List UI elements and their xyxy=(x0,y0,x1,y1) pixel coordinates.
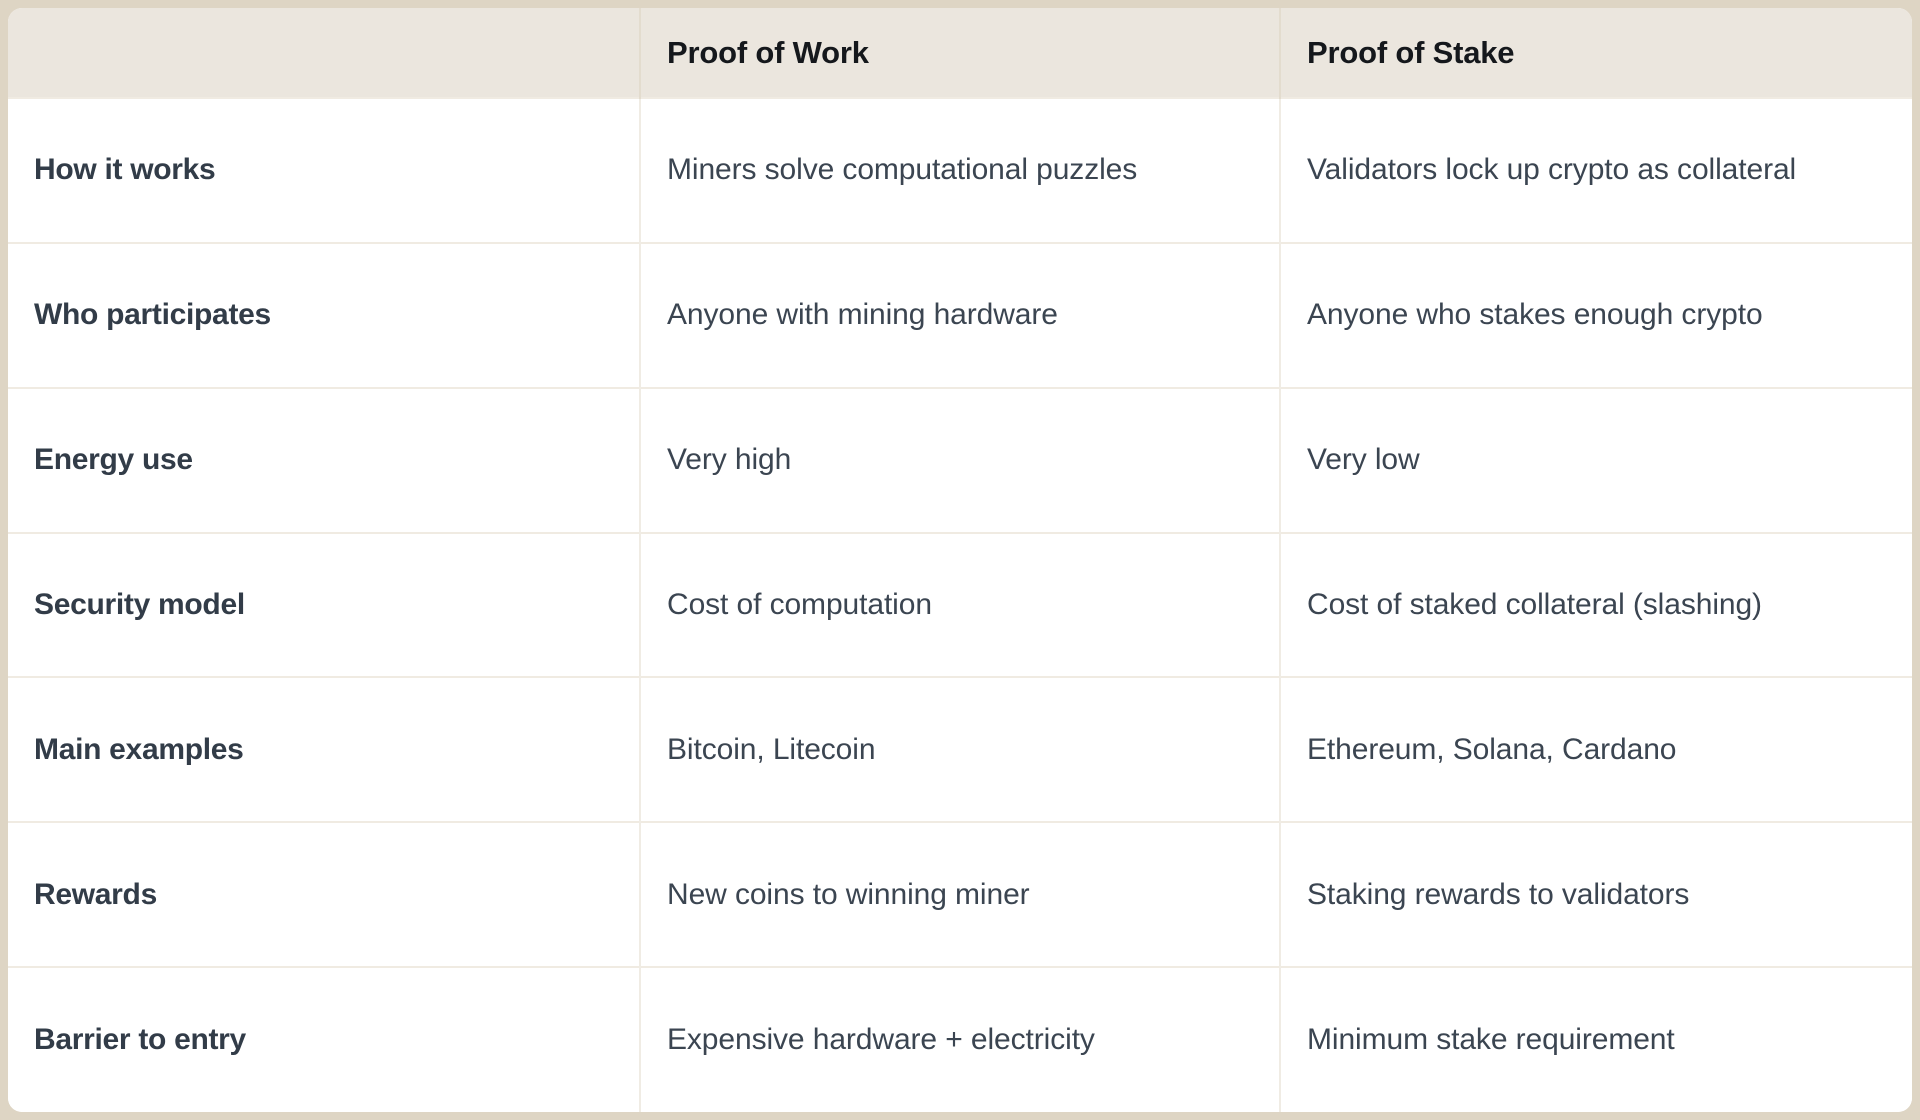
column-header-proof-of-work: Proof of Work xyxy=(640,8,1280,98)
table-row: Who participates Anyone with mining hard… xyxy=(8,243,1912,388)
row-label-energy-use: Energy use xyxy=(8,388,640,533)
cell-pow-who-participates: Anyone with mining hardware xyxy=(640,243,1280,388)
row-label-main-examples: Main examples xyxy=(8,677,640,822)
table-body: How it works Miners solve computational … xyxy=(8,98,1912,1112)
table-row: Energy use Very high Very low xyxy=(8,388,1912,533)
table-row: Barrier to entry Expensive hardware + el… xyxy=(8,967,1912,1112)
row-label-security-model: Security model xyxy=(8,533,640,678)
table-header: Proof of Work Proof of Stake xyxy=(8,8,1912,98)
table-row: Main examples Bitcoin, Litecoin Ethereum… xyxy=(8,677,1912,822)
row-label-rewards: Rewards xyxy=(8,822,640,967)
cell-pos-how-it-works: Validators lock up crypto as collateral xyxy=(1280,98,1912,243)
cell-pos-main-examples: Ethereum, Solana, Cardano xyxy=(1280,677,1912,822)
table-row: How it works Miners solve computational … xyxy=(8,98,1912,243)
cell-pos-who-participates: Anyone who stakes enough crypto xyxy=(1280,243,1912,388)
cell-pos-energy-use: Very low xyxy=(1280,388,1912,533)
table-header-row: Proof of Work Proof of Stake xyxy=(8,8,1912,98)
cell-pow-how-it-works: Miners solve computational puzzles xyxy=(640,98,1280,243)
cell-pos-security-model: Cost of staked collateral (slashing) xyxy=(1280,533,1912,678)
comparison-table-card: Proof of Work Proof of Stake How it work… xyxy=(8,8,1912,1112)
table-row: Rewards New coins to winning miner Staki… xyxy=(8,822,1912,967)
cell-pos-rewards: Staking rewards to validators xyxy=(1280,822,1912,967)
consensus-comparison-table: Proof of Work Proof of Stake How it work… xyxy=(8,8,1912,1112)
cell-pow-energy-use: Very high xyxy=(640,388,1280,533)
cell-pos-barrier-to-entry: Minimum stake requirement xyxy=(1280,967,1912,1112)
table-row: Security model Cost of computation Cost … xyxy=(8,533,1912,678)
row-label-who-participates: Who participates xyxy=(8,243,640,388)
cell-pow-security-model: Cost of computation xyxy=(640,533,1280,678)
column-header-attribute xyxy=(8,8,640,98)
row-label-how-it-works: How it works xyxy=(8,98,640,243)
cell-pow-barrier-to-entry: Expensive hardware + electricity xyxy=(640,967,1280,1112)
cell-pow-main-examples: Bitcoin, Litecoin xyxy=(640,677,1280,822)
column-header-proof-of-stake: Proof of Stake xyxy=(1280,8,1912,98)
cell-pow-rewards: New coins to winning miner xyxy=(640,822,1280,967)
row-label-barrier-to-entry: Barrier to entry xyxy=(8,967,640,1112)
